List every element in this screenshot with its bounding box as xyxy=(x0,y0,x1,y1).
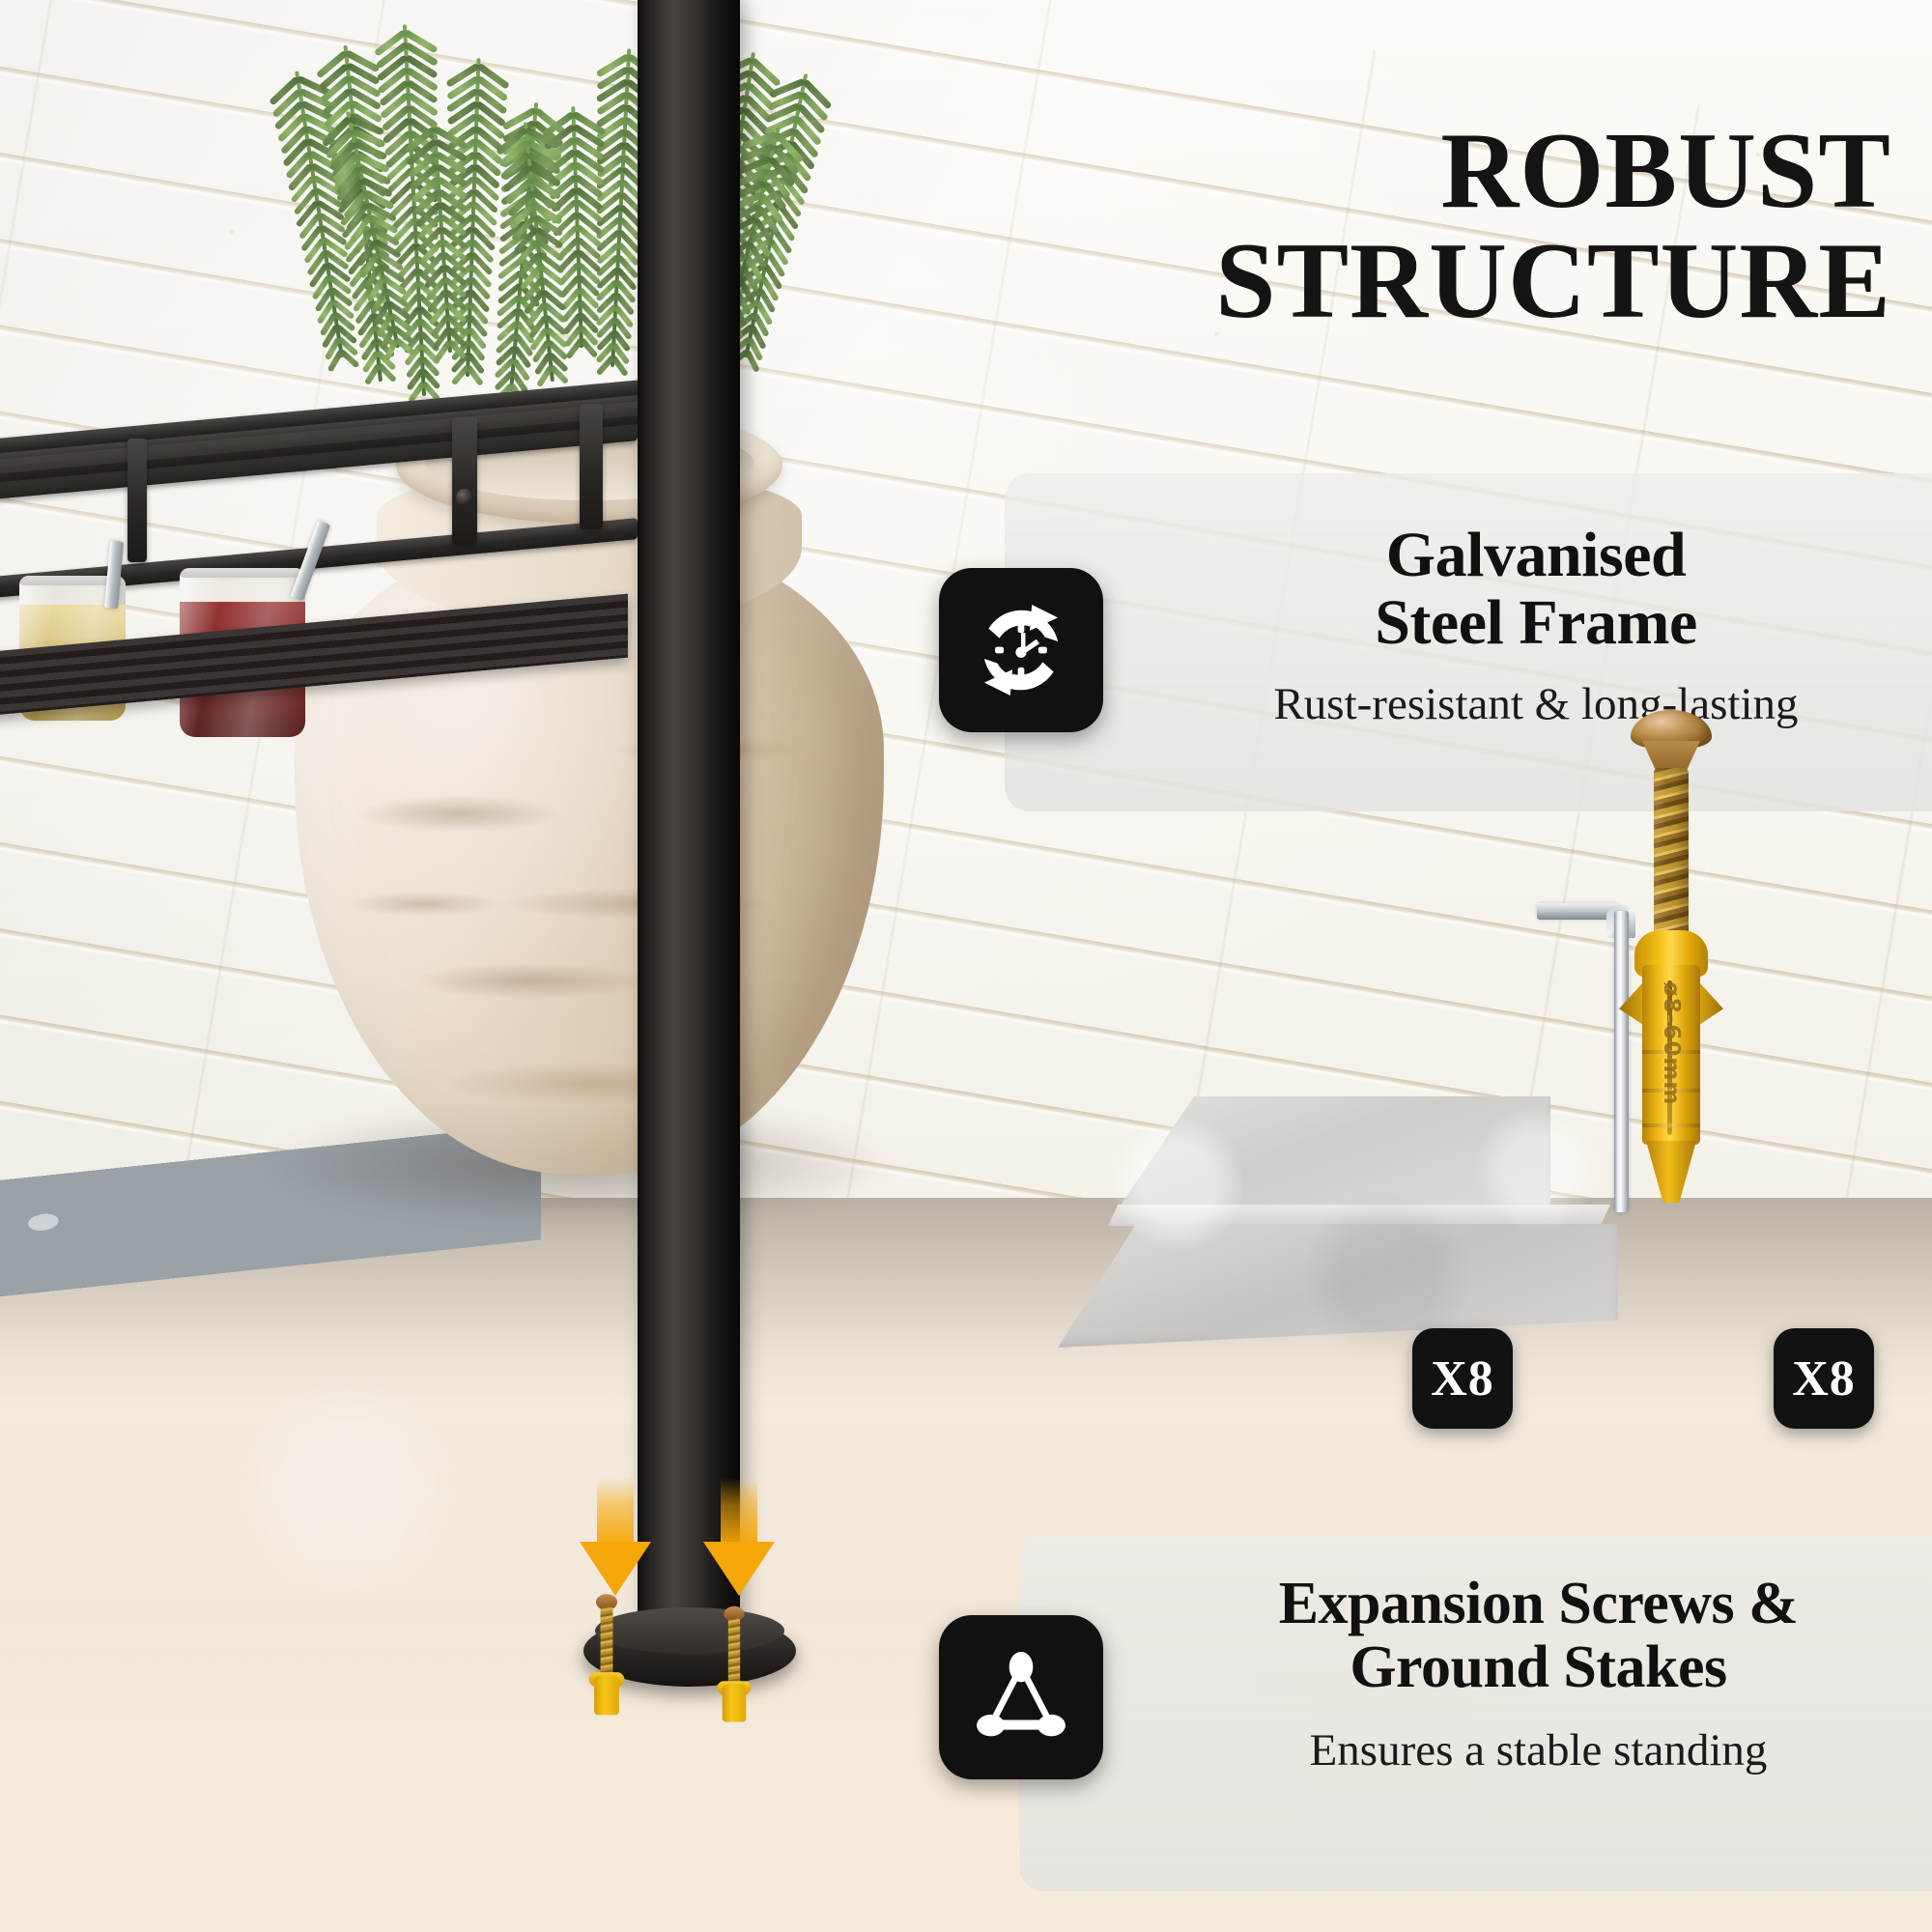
wall-plug-tip xyxy=(1646,1141,1696,1203)
headline-line-2: STRUCTURE xyxy=(674,226,1891,336)
callout-galvanised-title: Galvanised Steel Frame xyxy=(1135,522,1932,657)
product-infographic: ROBUST STRUCTURE Galvanised Steel Fr xyxy=(0,0,1932,1932)
callout-expansion-subtitle: Ensures a stable standing xyxy=(1135,1724,1932,1776)
ground-screw-left xyxy=(596,1594,617,1710)
rosemary-sprig xyxy=(609,48,633,367)
ground-screw-right xyxy=(724,1606,744,1717)
wall-plug-rib-1 xyxy=(1642,1050,1700,1054)
shelf-post-far-right xyxy=(580,404,603,529)
ground-screw-right-plug xyxy=(723,1685,747,1722)
screw-thread xyxy=(1654,768,1689,944)
arrow-right-head xyxy=(703,1542,775,1596)
shelf-post-mid xyxy=(128,439,147,562)
post-base-plate-top xyxy=(595,1607,784,1654)
rosemary-sprig xyxy=(464,58,483,377)
callout-galvanised-subtitle: Rust-resistant & long-lasting xyxy=(1135,678,1932,730)
step-lower-riser xyxy=(1058,1224,1618,1348)
quantity-badge-expansion-screw-text: X8 xyxy=(1792,1350,1856,1407)
quantity-badge-allen-key-text: X8 xyxy=(1431,1350,1494,1407)
shelf-post-right xyxy=(452,417,477,545)
headline-line-1: ROBUST xyxy=(1440,111,1891,231)
install-arrow-left xyxy=(580,1478,651,1594)
callout-expansion-text: Expansion Screws & Ground Stakes Ensures… xyxy=(1135,1573,1932,1776)
wall-plug-expansion-slot xyxy=(1667,980,1672,1135)
callout-expansion-title-line-1: Expansion Screws & xyxy=(1279,1571,1799,1636)
clock-refresh-icon xyxy=(939,568,1103,732)
callout-galvanised-title-line-2: Steel Frame xyxy=(1375,587,1697,658)
page-title: ROBUST STRUCTURE xyxy=(674,116,1891,336)
expansion-screw-assembly: ø8-60mm xyxy=(1613,710,1729,1212)
stability-triangle-icon xyxy=(939,1615,1103,1779)
install-arrow-right xyxy=(703,1478,775,1594)
callout-expansion-title-line-2: Ground Stakes xyxy=(1350,1634,1726,1700)
quantity-badge-expansion-screw: X8 xyxy=(1774,1328,1874,1429)
arrow-left-head xyxy=(580,1542,651,1596)
wall-plug-rib-3 xyxy=(1642,1123,1700,1127)
wall-plug-rib-2 xyxy=(1642,1089,1700,1093)
callout-galvanised-text: Galvanised Steel Frame Rust-resistant & … xyxy=(1135,522,1932,730)
callout-expansion-title: Expansion Screws & Ground Stakes xyxy=(1135,1573,1932,1699)
shelf-bolt-icon xyxy=(456,489,473,506)
ground-screw-left-plug xyxy=(594,1676,619,1715)
step-upper-riser xyxy=(1116,1096,1550,1212)
quantity-badge-allen-key: X8 xyxy=(1412,1328,1513,1429)
arrow-left-shaft xyxy=(597,1478,634,1548)
callout-galvanised-title-line-1: Galvanised xyxy=(1386,520,1686,590)
rosemary-sprig xyxy=(569,106,585,348)
jar-red-lid xyxy=(180,568,305,578)
steel-shelf-unit xyxy=(0,396,696,734)
arrow-right-shaft xyxy=(721,1478,757,1548)
